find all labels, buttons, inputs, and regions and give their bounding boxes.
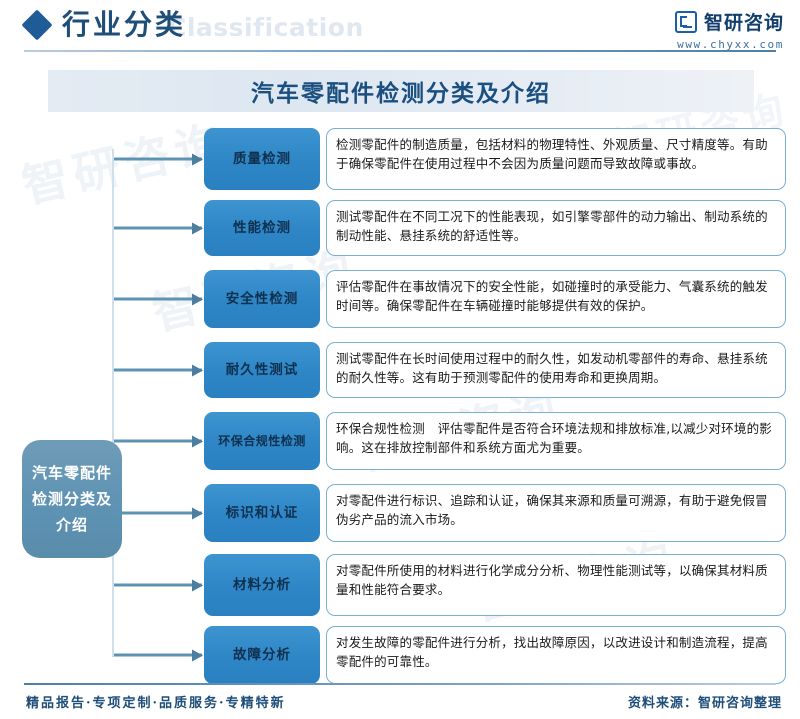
category-chip[interactable]: 耐久性测试 — [204, 342, 320, 398]
category-chip-label: 安全性检测 — [226, 291, 299, 308]
category-chip[interactable]: 安全性检测 — [204, 270, 320, 328]
header-divider — [24, 50, 776, 52]
arrow-connector-icon — [114, 298, 202, 301]
arrow-connector-icon — [114, 654, 202, 657]
zhiyan-logo-icon — [675, 11, 697, 33]
category-description-box: 测试零配件在长时间使用过程中的耐久性，如发动机零部件的寿命、悬挂系统的耐久性等。… — [326, 342, 786, 398]
category-chip[interactable]: 材料分析 — [204, 554, 320, 616]
category-chip-label: 性能检测 — [233, 220, 291, 237]
category-chip[interactable]: 环保合规性检测 — [204, 412, 320, 470]
diagram-row: 耐久性测试测试零配件在长时间使用过程中的耐久性，如发动机零部件的寿命、悬挂系统的… — [114, 342, 786, 398]
page-title: 行业分类 — [62, 7, 186, 43]
brand-block: 智研咨询 www.chyxx.com — [675, 8, 784, 51]
category-description-box: 环保合规性检测 评估零配件是否符合环境法规和排放标准,以减少对环境的影响。这在排… — [326, 412, 786, 470]
header-subtitle-watermark: Classification — [168, 12, 364, 44]
diagram-row: 标识和认证对零配件进行标识、追踪和认证，确保其来源和质量可溯源，有助于避免假冒伪… — [114, 484, 786, 542]
category-description-text: 环保合规性检测 评估零配件是否符合环境法规和排放标准,以减少对环境的影响。这在排… — [336, 420, 776, 457]
category-description-box: 对发生故障的零配件进行分析，找出故障原因，以改进设计和制造流程，提高零配件的可靠… — [326, 626, 786, 684]
category-description-box: 测试零配件在不同工况下的性能表现，如引擎零部件的动力输出、制动系统的制动性能、悬… — [326, 200, 786, 256]
category-description-box: 对零配件所使用的材料进行化学成分分析、物理性能测试等，以确保其材料质量和性能符合… — [326, 554, 786, 616]
chart-title-banner: 汽车零配件检测分类及介绍 — [48, 70, 754, 112]
root-node-label: 汽车零配件检测分类及介绍 — [30, 460, 114, 538]
diamond-icon — [21, 9, 52, 40]
category-chip-label: 故障分析 — [233, 647, 291, 664]
category-chip-label: 环保合规性检测 — [218, 433, 306, 450]
footer-divider — [24, 683, 776, 685]
diagram-row: 性能检测测试零配件在不同工况下的性能表现，如引擎零部件的动力输出、制动系统的制动… — [114, 200, 786, 256]
classification-diagram: 汽车零配件检测分类及介绍 质量检测检测零配件的制造质量，包括材料的物理特性、外观… — [0, 118, 800, 674]
chart-title: 汽车零配件检测分类及介绍 — [48, 70, 754, 112]
category-description-text: 测试零配件在不同工况下的性能表现，如引擎零部件的动力输出、制动系统的制动性能、悬… — [336, 208, 776, 245]
root-node: 汽车零配件检测分类及介绍 — [22, 440, 122, 558]
category-chip-label: 标识和认证 — [226, 505, 299, 522]
category-chip[interactable]: 标识和认证 — [204, 484, 320, 542]
arrow-connector-icon — [114, 440, 202, 443]
page-header: Classification 行业分类 智研咨询 www.chyxx.com — [0, 0, 800, 58]
category-chip-label: 材料分析 — [233, 577, 291, 594]
arrow-connector-icon — [114, 584, 202, 587]
category-chip-label: 耐久性测试 — [226, 362, 299, 379]
arrow-connector-icon — [114, 158, 202, 161]
diagram-row: 材料分析对零配件所使用的材料进行化学成分分析、物理性能测试等，以确保其材料质量和… — [114, 554, 786, 616]
category-description-text: 评估零配件在事故情况下的安全性能，如碰撞时的承受能力、气囊系统的触发时间等。确保… — [336, 278, 776, 315]
diagram-row: 环保合规性检测环保合规性检测 评估零配件是否符合环境法规和排放标准,以减少对环境… — [114, 412, 786, 470]
category-description-text: 对零配件所使用的材料进行化学成分分析、物理性能测试等，以确保其材料质量和性能符合… — [336, 562, 776, 599]
category-description-box: 评估零配件在事故情况下的安全性能，如碰撞时的承受能力、气囊系统的触发时间等。确保… — [326, 270, 786, 328]
footer-source: 资料来源：智研咨询整理 — [628, 692, 782, 711]
brand-name: 智研咨询 — [704, 8, 784, 35]
diagram-row: 故障分析对发生故障的零配件进行分析，找出故障原因，以改进设计和制造流程，提高零配… — [114, 626, 786, 684]
diagram-row: 质量检测检测零配件的制造质量，包括材料的物理特性、外观质量、尺寸精度等。有助于确… — [114, 128, 786, 190]
arrow-connector-icon — [114, 512, 202, 515]
category-description-text: 测试零配件在长时间使用过程中的耐久性，如发动机零部件的寿命、悬挂系统的耐久性等。… — [336, 350, 776, 387]
arrow-connector-icon — [114, 369, 202, 372]
category-description-box: 检测零配件的制造质量，包括材料的物理特性、外观质量、尺寸精度等。有助于确保零配件… — [326, 128, 786, 190]
category-chip-label: 质量检测 — [233, 151, 291, 168]
category-description-text: 检测零配件的制造质量，包括材料的物理特性、外观质量、尺寸精度等。有助于确保零配件… — [336, 136, 776, 173]
arrow-connector-icon — [114, 227, 202, 230]
category-description-text: 对零配件进行标识、追踪和认证，确保其来源和质量可溯源，有助于避免假冒伪劣产品的流… — [336, 492, 776, 529]
category-chip[interactable]: 质量检测 — [204, 128, 320, 190]
category-chip[interactable]: 故障分析 — [204, 626, 320, 684]
diagram-row: 安全性检测评估零配件在事故情况下的安全性能，如碰撞时的承受能力、气囊系统的触发时… — [114, 270, 786, 328]
footer-slogan: 精品报告·专项定制·品质服务·专精特新 — [26, 692, 286, 711]
category-description-text: 对发生故障的零配件进行分析，找出故障原因，以改进设计和制造流程，提高零配件的可靠… — [336, 634, 776, 671]
category-chip[interactable]: 性能检测 — [204, 200, 320, 256]
category-description-box: 对零配件进行标识、追踪和认证，确保其来源和质量可溯源，有助于避免假冒伪劣产品的流… — [326, 484, 786, 542]
